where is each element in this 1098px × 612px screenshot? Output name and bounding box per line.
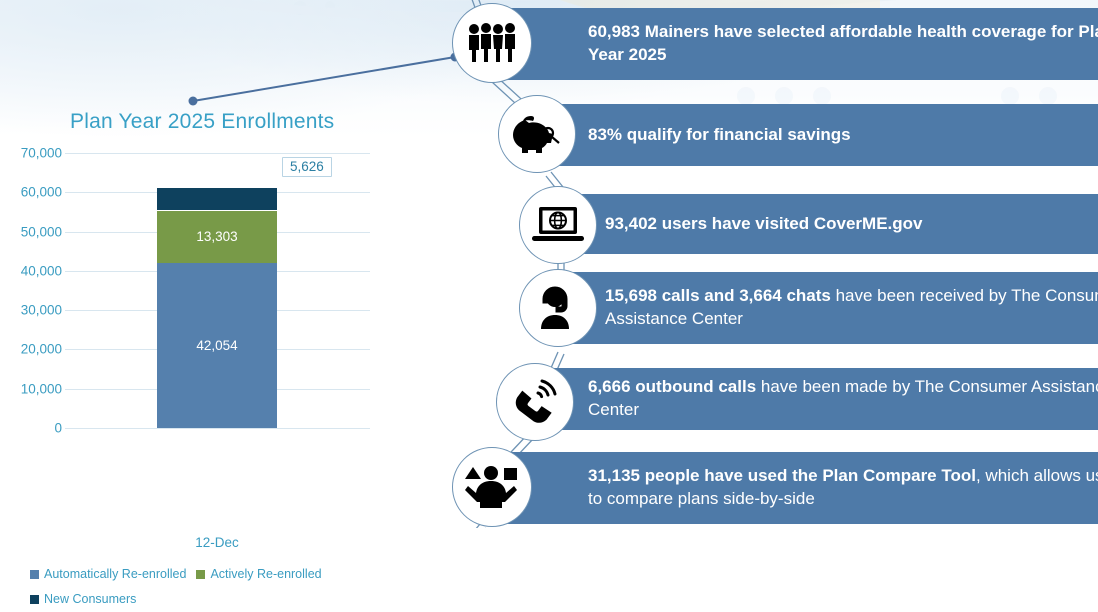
legend-item-automatically-reenrolled: Automatically Re-enrolled bbox=[30, 565, 186, 584]
legend-swatch-icon bbox=[30, 595, 39, 604]
y-axis-tick: 40,000 bbox=[21, 263, 62, 278]
y-axis-tick: 30,000 bbox=[21, 303, 62, 318]
legend-swatch-icon bbox=[196, 570, 205, 579]
legend-label: Actively Re-enrolled bbox=[210, 567, 321, 581]
outbound-phone-icon bbox=[511, 379, 559, 425]
x-axis-tick: 12-Dec bbox=[157, 535, 277, 550]
stat-band-calls-chats: 15,698 calls and 3,664 chats have been r… bbox=[560, 272, 1098, 344]
compare-person-icon bbox=[464, 465, 520, 509]
y-axis-tick: 20,000 bbox=[21, 342, 62, 357]
chart-plot-area: 70,000 60,000 50,000 40,000 30,000 20,00… bbox=[65, 153, 370, 528]
stat-band-enrollments: 60,983 Mainers have selected affordable … bbox=[495, 8, 1098, 80]
stat-bubble-enrollments bbox=[452, 3, 532, 83]
stat-text: 31,135 people have used the Plan Compare… bbox=[495, 465, 1098, 510]
stat-bubble-calls-chats bbox=[519, 269, 597, 347]
stat-bubble-financial-savings bbox=[498, 95, 576, 173]
y-axis-tick: 70,000 bbox=[21, 146, 62, 161]
gridline bbox=[65, 153, 370, 154]
bar-label-new-consumers-callout: 5,626 bbox=[282, 157, 332, 177]
stat-bubble-outbound-calls bbox=[496, 363, 574, 441]
bar-label-actively-reenrolled: 13,303 bbox=[157, 229, 277, 244]
stat-band-website-visits: 93,402 users have visited CoverME.gov bbox=[560, 194, 1098, 254]
bar-label-automatically-reenrolled: 42,054 bbox=[157, 338, 277, 353]
four-people-icon bbox=[466, 23, 518, 63]
stat-text: 15,698 calls and 3,664 chats have been r… bbox=[560, 285, 1098, 330]
legend-label: Automatically Re-enrolled bbox=[44, 567, 186, 581]
legend-swatch-icon bbox=[30, 570, 39, 579]
y-axis-tick: 0 bbox=[54, 421, 62, 436]
stat-band-plan-compare-tool: 31,135 people have used the Plan Compare… bbox=[495, 452, 1098, 524]
laptop-globe-icon bbox=[530, 204, 586, 246]
piggy-bank-icon bbox=[511, 113, 563, 155]
legend-item-actively-reenrolled: Actively Re-enrolled bbox=[196, 565, 321, 584]
stat-bubble-plan-compare-tool bbox=[452, 447, 532, 527]
enrollments-chart: Plan Year 2025 Enrollments 70,000 60,000… bbox=[0, 96, 440, 528]
legend-item-new-consumers: New Consumers bbox=[30, 590, 136, 609]
legend-label: New Consumers bbox=[44, 592, 136, 606]
statistics-rail: 60,983 Mainers have selected affordable … bbox=[440, 0, 1098, 528]
stat-bubble-website-visits bbox=[519, 186, 597, 264]
stat-text: 6,666 outbound calls have been made by T… bbox=[540, 376, 1098, 421]
stat-text: 60,983 Mainers have selected affordable … bbox=[495, 21, 1098, 66]
stat-text: 93,402 users have visited CoverME.gov bbox=[560, 213, 937, 236]
y-axis-tick: 60,000 bbox=[21, 185, 62, 200]
stat-text: 83% qualify for financial savings bbox=[540, 124, 865, 147]
headset-agent-icon bbox=[535, 285, 581, 331]
stat-band-outbound-calls: 6,666 outbound calls have been made by T… bbox=[540, 368, 1098, 430]
gridline bbox=[65, 428, 370, 429]
bar-segment-new-consumers bbox=[157, 188, 277, 210]
stat-band-financial-savings: 83% qualify for financial savings bbox=[540, 104, 1098, 166]
chart-title: Plan Year 2025 Enrollments bbox=[70, 110, 334, 134]
y-axis-tick: 10,000 bbox=[21, 381, 62, 396]
y-axis-tick: 50,000 bbox=[21, 224, 62, 239]
chart-legend: Automatically Re-enrolled Actively Re-en… bbox=[30, 562, 430, 612]
